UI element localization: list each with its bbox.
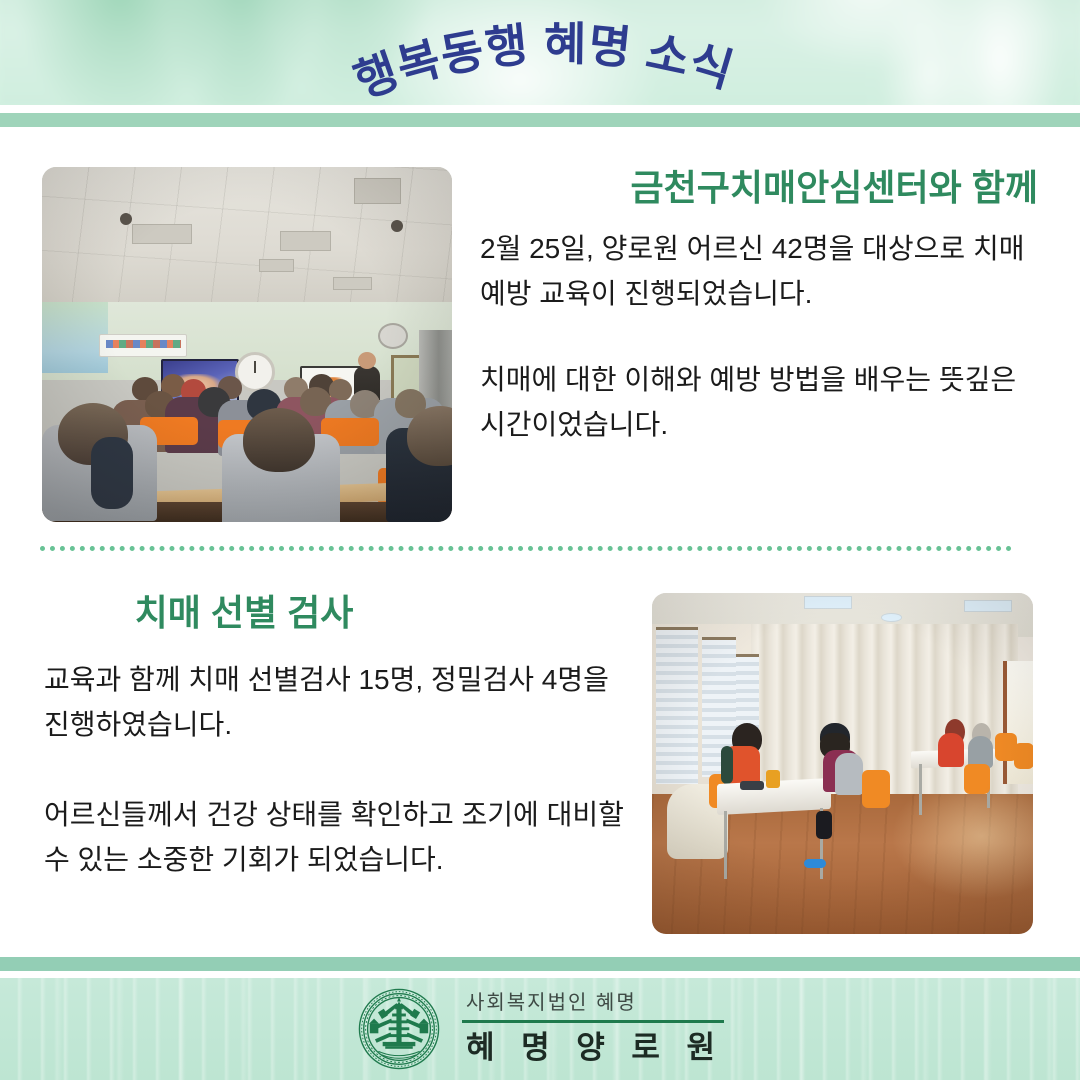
page-title: 행복동행 혜명 소식 — [348, 18, 740, 105]
footer-divider-bar — [0, 957, 1080, 971]
header-title-arc: 행복동행 혜명 소식 — [0, 0, 1080, 105]
section-2-text: 치매 선별 검사 교육과 함께 치매 선별검사 15명, 정밀검사 4명을 진행… — [44, 590, 624, 882]
organization-sub-name: 사회복지법인 혜명 — [462, 992, 724, 1020]
section-1-paragraph-1: 2월 25일, 양로원 어르신 42명을 대상으로 치매 예방 교육이 진행되었… — [480, 226, 1040, 317]
section-2-heading: 치매 선별 검사 — [44, 590, 624, 635]
section-1-photo — [42, 167, 452, 522]
organization-identity: 사회복지법인 혜명 혜 명 양 로 원 — [462, 992, 724, 1066]
section-2-paragraph-2: 어르신들께서 건강 상태를 확인하고 조기에 대비할 수 있는 소중한 기회가 … — [44, 792, 624, 883]
page-header: 행복동행 혜명 소식 — [0, 0, 1080, 105]
section-dementia-education: 금천구치매안심센터와 함께 2월 25일, 양로원 어르신 42명을 대상으로 … — [0, 127, 1080, 537]
section-divider — [40, 546, 1012, 551]
section-dementia-screening: 치매 선별 검사 교육과 함께 치매 선별검사 15명, 정밀검사 4명을 진행… — [0, 572, 1080, 955]
content-area: 금천구치매안심센터와 함께 2월 25일, 양로원 어르신 42명을 대상으로 … — [0, 127, 1080, 955]
header-divider-bar — [0, 113, 1080, 127]
hyemyeong-seal-emblem-icon — [356, 986, 442, 1072]
page-footer: 사회복지법인 혜명 혜 명 양 로 원 — [0, 978, 1080, 1080]
section-1-heading: 금천구치매안심센터와 함께 — [480, 165, 1040, 210]
section-1-paragraph-2: 치매에 대한 이해와 예방 방법을 배우는 뜻깊은 시간이었습니다. — [480, 357, 1040, 448]
section-2-photo — [652, 593, 1033, 934]
section-1-text: 금천구치매안심센터와 함께 2월 25일, 양로원 어르신 42명을 대상으로 … — [480, 165, 1040, 447]
organization-main-name: 혜 명 양 로 원 — [462, 1023, 724, 1066]
section-2-paragraph-1: 교육과 함께 치매 선별검사 15명, 정밀검사 4명을 진행하였습니다. — [44, 657, 624, 748]
